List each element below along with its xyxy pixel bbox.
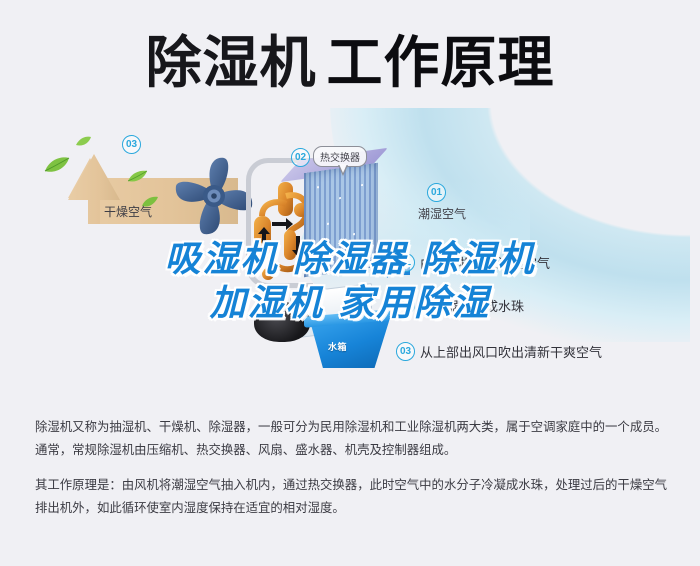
annotation-row-01: 01 由除湿机吸入潮湿空气	[396, 253, 550, 272]
infographic-page: 除湿机 工作原理	[0, 0, 700, 566]
title-part-primary: 除湿机	[146, 35, 317, 91]
description-paragraph-2: 其工作原理是：由风机将潮湿空气抽入机内，通过热交换器，此时空气中的水分子冷凝成水…	[35, 474, 667, 520]
leaf-icon	[76, 136, 91, 147]
callout-tail-icon	[338, 165, 348, 176]
water-tank-label: 水箱	[328, 340, 347, 353]
annotation-row-02: 02 蒸发器冷凝成水珠	[396, 296, 524, 315]
annotation-row-03: 03 从上部出风口吹出清新干爽空气	[396, 342, 602, 361]
leaf-icon	[44, 156, 70, 174]
dehumidifier-unit: 水箱	[246, 152, 392, 352]
marker-02: 02	[291, 148, 310, 167]
annotation-marker-02: 02	[396, 296, 415, 315]
title-part-secondary: 工作原理	[327, 35, 555, 91]
marker-01: 01	[427, 183, 446, 202]
annotation-text-01: 由除湿机吸入潮湿空气	[420, 253, 550, 272]
description-block: 除湿机又称为抽湿机、干燥机、除湿器，一般可分为民用除湿机和工业除湿机两大类，属于…	[35, 416, 667, 532]
dehumidifier-diagram: 水箱 03 02 01 热交换器 干燥空气 潮湿空气 01 由除湿机吸入潮湿空气…	[0, 108, 700, 408]
leaf-icon	[128, 170, 147, 183]
annotation-text-02: 蒸发器冷凝成水珠	[420, 296, 524, 315]
water-tank: 水箱	[302, 318, 394, 374]
humid-air-label: 潮湿空气	[418, 205, 466, 222]
description-paragraph-1: 除湿机又称为抽湿机、干燥机、除湿器，一般可分为民用除湿机和工业除湿机两大类，属于…	[35, 416, 667, 462]
annotation-marker-01: 01	[396, 253, 415, 272]
annotation-marker-03: 03	[396, 342, 415, 361]
marker-03-left: 03	[122, 135, 141, 154]
dry-air-label: 干燥空气	[104, 203, 152, 220]
condensation-droplets	[304, 163, 378, 277]
annotation-text-03: 从上部出风口吹出清新干爽空气	[420, 342, 602, 361]
page-title: 除湿机 工作原理	[0, 18, 700, 108]
